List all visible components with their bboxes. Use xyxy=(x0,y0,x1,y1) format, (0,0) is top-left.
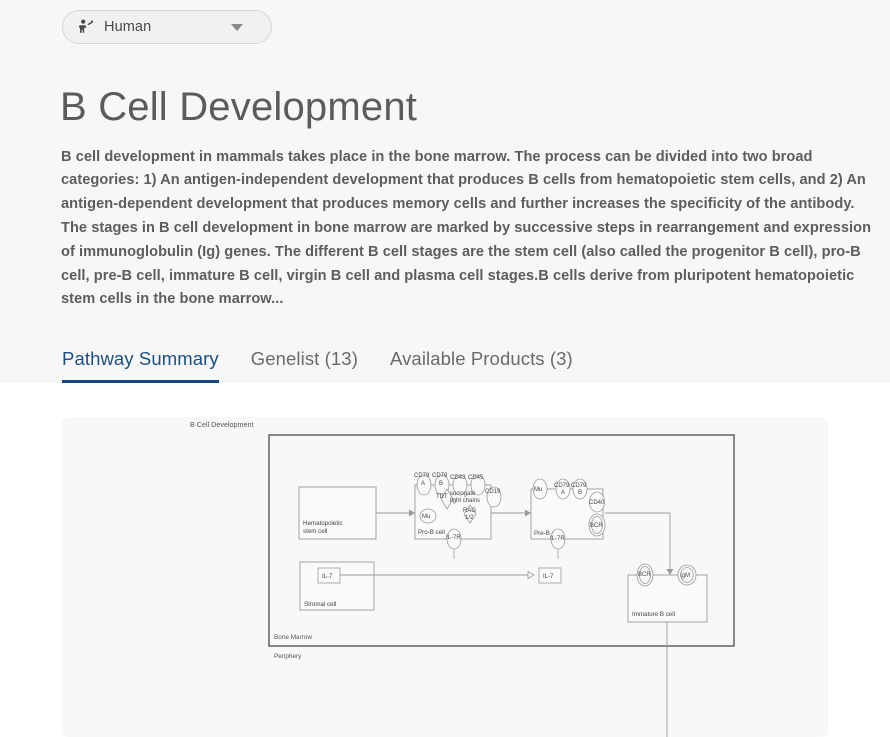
hematopoietic-stem-cell-label2: stem cell xyxy=(303,528,327,535)
bone-marrow-label: Bone Marrow xyxy=(274,634,312,641)
connector-preb-to-immature xyxy=(605,513,674,575)
immature-b-cell-label: Immature B cell xyxy=(632,611,675,618)
chevron-down-icon[interactable] xyxy=(231,24,243,31)
svg-text:IL-7R: IL-7R xyxy=(550,536,565,542)
pathway-diagram[interactable]: B Cell Development Bone Marrow Periphery… xyxy=(62,417,828,737)
svg-text:CD40: CD40 xyxy=(589,500,605,506)
svg-text:CD43: CD43 xyxy=(450,475,466,481)
tab-bar: Pathway Summary Genelist (13) Available … xyxy=(62,345,605,383)
il7-ligand-preb-label: IL-7 xyxy=(543,574,554,580)
svg-text:BCR: BCR xyxy=(638,572,651,578)
diagram-caption: B Cell Development xyxy=(190,420,254,429)
species-selector-dropdown[interactable]: Human xyxy=(62,10,272,44)
pathway-diagram-panel[interactable]: B Cell Development Bone Marrow Periphery… xyxy=(62,417,828,737)
il7-ligand-stromal-label: IL-7 xyxy=(322,574,333,580)
svg-text:surrogate: surrogate xyxy=(450,491,476,497)
svg-text:A: A xyxy=(561,490,565,496)
svg-text:RAG: RAG xyxy=(463,508,476,514)
pathway-description: B cell development in mammals takes plac… xyxy=(61,146,873,313)
svg-text:Mu: Mu xyxy=(422,514,430,520)
svg-text:TDT: TDT xyxy=(436,494,448,500)
svg-text:CD79: CD79 xyxy=(554,483,570,489)
arrow-prob-to-preb xyxy=(491,510,531,517)
svg-text:BCR: BCR xyxy=(590,523,603,529)
svg-text:B: B xyxy=(439,481,443,487)
svg-text:B: B xyxy=(578,490,582,496)
svg-text:1/2: 1/2 xyxy=(465,515,474,521)
tab-available-products[interactable]: Available Products (3) xyxy=(390,348,573,383)
periphery-label: Periphery xyxy=(274,653,302,660)
pro-b-cell-label: Pro-B cell xyxy=(418,529,445,536)
human-figure-icon xyxy=(77,18,95,36)
svg-text:IL-7R: IL-7R xyxy=(446,535,461,541)
page-title: B Cell Development xyxy=(60,84,417,130)
svg-text:light chains: light chains xyxy=(450,498,480,504)
svg-text:CD79: CD79 xyxy=(571,483,587,489)
svg-text:CD45: CD45 xyxy=(468,475,484,481)
tab-genelist[interactable]: Genelist (13) xyxy=(251,348,358,383)
hematopoietic-stem-cell-label: Hematopoietic xyxy=(303,520,343,527)
svg-text:Mu: Mu xyxy=(534,487,542,493)
svg-text:A: A xyxy=(421,481,425,487)
species-selector-label: Human xyxy=(104,19,231,35)
arrow-stemcell-to-prob xyxy=(376,510,415,517)
svg-text:CD79: CD79 xyxy=(432,473,448,479)
svg-text:CD19: CD19 xyxy=(485,489,501,495)
svg-text:IgM: IgM xyxy=(680,573,690,579)
tab-pathway-summary[interactable]: Pathway Summary xyxy=(62,348,219,383)
stromal-cell-label: Stromal cell xyxy=(304,601,336,608)
svg-text:CD79: CD79 xyxy=(414,473,430,479)
